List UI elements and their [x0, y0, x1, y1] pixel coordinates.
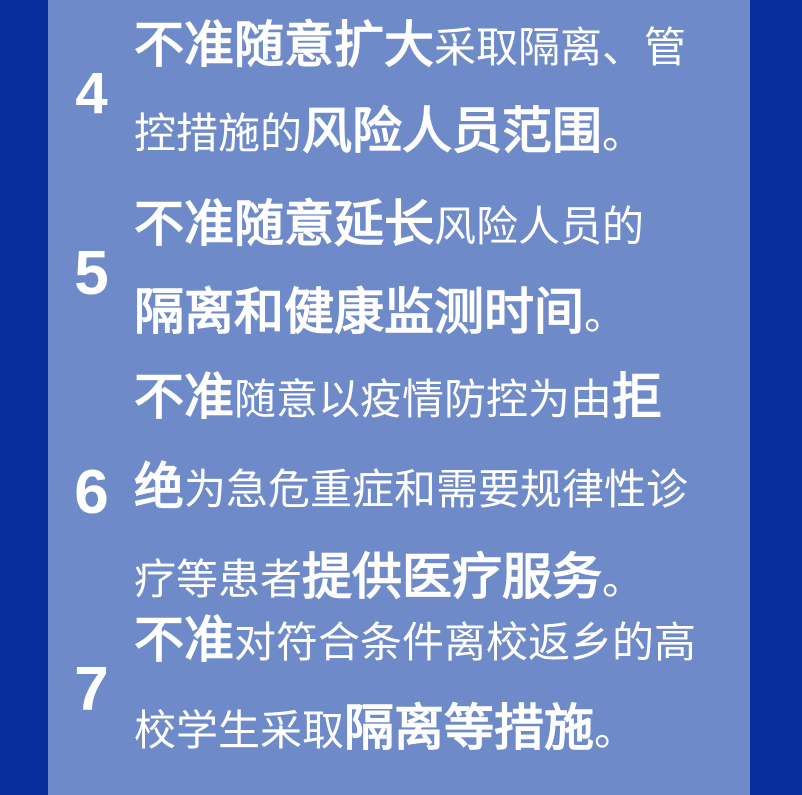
rule-6-line-3-seg-2: 提供医疗服务 — [302, 548, 602, 606]
rule-number-6: 6 — [48, 462, 134, 524]
rule-4-line-1: 不准随意扩大采取隔离、管 — [134, 8, 742, 94]
rule-5-line-2: 隔离和健康监测时间。 — [134, 274, 742, 362]
rule-text-6: 不准随意以疫情防控为由拒 绝为急危重症和需要规律性诊 疗等患者提供医疗服务。 — [134, 358, 750, 628]
rule-7-line-1: 不准对符合条件离校返乡的高 — [134, 602, 742, 690]
rule-6-line-1-seg-3: 拒 — [612, 368, 662, 426]
rule-item-7: 7 不准对符合条件离校返乡的高 校学生采取隔离等措施。 — [48, 602, 750, 778]
rule-7-line-1-seg-2: 对符合条件离校返乡的高 — [234, 618, 696, 667]
rule-4-line-1-seg-1: 不准随意扩大 — [134, 16, 434, 74]
poster-root: 4 不准随意扩大采取隔离、管 控措施的风险人员范围。 5 不准随意延长风险人员的 — [0, 0, 802, 795]
rule-5-line-2-seg-1: 隔离和健康监测时间 — [134, 283, 584, 341]
rule-text-5: 不准随意延长风险人员的 隔离和健康监测时间。 — [134, 186, 750, 362]
rule-item-5: 5 不准随意延长风险人员的 隔离和健康监测时间。 — [48, 186, 750, 362]
rule-4-line-2-seg-2: 风险人员范围 — [302, 102, 602, 160]
rules-list: 4 不准随意扩大采取隔离、管 控措施的风险人员范围。 5 不准随意延长风险人员的 — [48, 0, 750, 795]
rule-number-5: 5 — [48, 243, 134, 305]
rule-6-line-3-seg-3: 。 — [602, 555, 644, 604]
rule-7-line-2-seg-3: 。 — [594, 706, 636, 755]
rule-7-line-2-seg-1: 校学生采取 — [134, 706, 344, 755]
rule-5-line-2-seg-2: 。 — [584, 290, 626, 339]
rule-text-4: 不准随意扩大采取隔离、管 控措施的风险人员范围。 — [134, 8, 750, 180]
rule-6-line-2: 绝为急危重症和需要规律性诊 — [134, 448, 742, 538]
rule-6-line-2-seg-1: 绝 — [134, 458, 184, 516]
rule-5-line-1-seg-1: 不准随意延长 — [134, 195, 434, 253]
rule-item-6: 6 不准随意以疫情防控为由拒 绝为急危重症和需要规律性诊 疗等患者提供医疗服务。 — [48, 358, 750, 628]
rule-6-line-1-seg-2: 随意以疫情防控为由 — [234, 375, 612, 424]
rule-text-7: 不准对符合条件离校返乡的高 校学生采取隔离等措施。 — [134, 602, 750, 778]
poster-inner-panel: 4 不准随意扩大采取隔离、管 控措施的风险人员范围。 5 不准随意延长风险人员的 — [48, 0, 750, 795]
rule-6-line-3-seg-1: 疗等患者 — [134, 555, 302, 604]
rule-7-line-2-seg-2: 隔离等措施 — [344, 699, 594, 757]
rule-4-line-2-seg-3: 。 — [602, 109, 644, 158]
rule-4-line-1-seg-2: 采取隔离、管 — [434, 23, 686, 72]
rule-4-line-2: 控措施的风险人员范围。 — [134, 94, 742, 180]
rule-6-line-1: 不准随意以疫情防控为由拒 — [134, 358, 742, 448]
rule-7-line-2: 校学生采取隔离等措施。 — [134, 690, 742, 778]
rule-4-line-2-seg-1: 控措施的 — [134, 109, 302, 158]
rule-item-4: 4 不准随意扩大采取隔离、管 控措施的风险人员范围。 — [48, 8, 750, 180]
rule-6-line-2-seg-2: 为急危重症和需要规律性诊 — [184, 465, 688, 514]
rule-number-7: 7 — [48, 659, 134, 721]
rule-6-line-1-seg-1: 不准 — [134, 368, 234, 426]
rule-5-line-1-seg-2: 风险人员的 — [434, 202, 644, 251]
rule-7-line-1-seg-1: 不准 — [134, 611, 234, 669]
rule-number-4: 4 — [48, 65, 134, 123]
rule-5-line-1: 不准随意延长风险人员的 — [134, 186, 742, 274]
